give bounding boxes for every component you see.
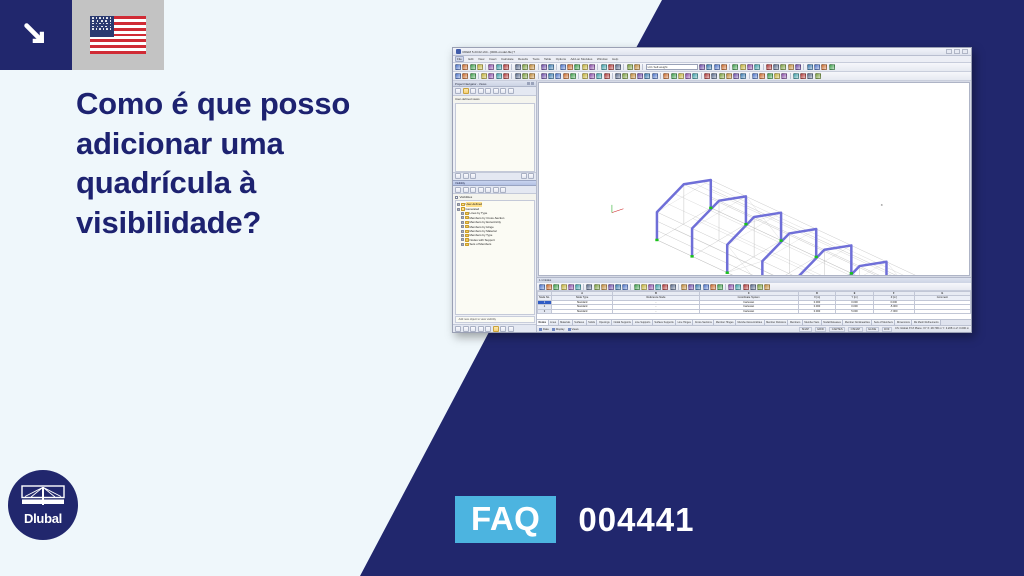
toolbar-icon-38[interactable] bbox=[759, 73, 765, 79]
menu-item-add-on-modules[interactable]: Add-on Modules bbox=[571, 57, 593, 61]
table-toolbar-separator bbox=[678, 284, 679, 290]
table-toolbar-icon-30[interactable] bbox=[735, 284, 741, 290]
tree-item-label: Sets of Members bbox=[470, 242, 492, 246]
tree-item-sets-of-members[interactable]: +Sets of Members bbox=[457, 242, 534, 246]
toolbar-icon-7[interactable] bbox=[503, 64, 509, 70]
toolbar-separator bbox=[478, 73, 479, 79]
folder-icon bbox=[465, 221, 469, 224]
main-toolbar[interactable]: LC1 Self-weight bbox=[453, 63, 971, 72]
toolbar-icon-22[interactable] bbox=[630, 73, 636, 79]
support-node bbox=[690, 255, 693, 257]
help-visibility-button[interactable] bbox=[508, 326, 514, 332]
toolbar-separator bbox=[485, 64, 486, 70]
data-icon bbox=[539, 328, 542, 331]
toolbar-separator bbox=[660, 73, 661, 79]
table-toolbar-icon-18[interactable] bbox=[655, 284, 661, 290]
toolbar-icon-13[interactable] bbox=[555, 73, 561, 79]
toolbar-icon-29[interactable] bbox=[747, 64, 753, 70]
toolbar-icon-15[interactable] bbox=[574, 64, 580, 70]
load-case-combo[interactable]: LC1 Self-weight bbox=[646, 64, 698, 70]
toolbar-icon-19[interactable] bbox=[608, 64, 614, 70]
status-item-label: Data bbox=[543, 328, 549, 331]
toolbar-icon-27[interactable] bbox=[732, 64, 738, 70]
toolbar-icon-4[interactable] bbox=[481, 73, 487, 79]
toolbar-separator bbox=[511, 64, 512, 70]
table-toolbar-icon-4[interactable] bbox=[561, 284, 567, 290]
menu-item-edit[interactable]: Edit bbox=[468, 57, 473, 61]
status-toggle-snap[interactable]: SNAP bbox=[799, 327, 811, 332]
select-visibility-button[interactable] bbox=[485, 326, 491, 332]
toolbar-icon-45[interactable] bbox=[815, 73, 821, 79]
toolbar-icon-27[interactable] bbox=[671, 73, 677, 79]
toolbar-icon-35[interactable] bbox=[795, 64, 801, 70]
apply-visibility-button[interactable] bbox=[493, 326, 499, 332]
toolbar-icon-29[interactable] bbox=[685, 73, 691, 79]
maximize-button[interactable] bbox=[954, 49, 960, 54]
toolbar-icon-12[interactable] bbox=[548, 73, 554, 79]
toolbar-separator bbox=[538, 73, 539, 79]
group-icon[interactable] bbox=[478, 187, 484, 193]
cell-node-no[interactable]: 3 bbox=[538, 309, 552, 314]
toolbar-icon-17[interactable] bbox=[589, 73, 595, 79]
status-item-label: Views bbox=[572, 328, 579, 331]
menu-item-help[interactable]: Help bbox=[612, 57, 618, 61]
wire-view-button[interactable] bbox=[500, 88, 506, 94]
status-toggle-dxf[interactable]: DXF bbox=[882, 327, 892, 332]
toolbar-icon-37[interactable] bbox=[752, 73, 758, 79]
toolbar-icon-12[interactable] bbox=[548, 64, 554, 70]
status-right-group: SNAPGRIDCARTESOSNAPGLINEDXFCS: Global XY… bbox=[799, 327, 969, 332]
table-toolbar-icon-26[interactable] bbox=[710, 284, 716, 290]
toolbar-separator bbox=[612, 73, 613, 79]
toolbar-icon-15[interactable] bbox=[570, 73, 576, 79]
menu-item-results[interactable]: Results bbox=[518, 57, 528, 61]
status-toggle-osnap[interactable]: OSNAP bbox=[848, 327, 862, 332]
toolbar-icon-24[interactable] bbox=[644, 73, 650, 79]
toolbar-icon-4[interactable] bbox=[477, 64, 483, 70]
collapse-icon[interactable] bbox=[500, 187, 506, 193]
toolbar-icon-26[interactable] bbox=[721, 64, 727, 70]
support-node bbox=[779, 239, 782, 241]
folder-icon bbox=[465, 216, 469, 219]
close-button[interactable] bbox=[962, 49, 968, 54]
menu-item-table[interactable]: Table bbox=[544, 57, 551, 61]
toolbar-icon-2[interactable] bbox=[462, 73, 468, 79]
dlubal-bridge-icon bbox=[21, 485, 65, 509]
faq-badge: FAQ bbox=[455, 496, 556, 543]
invert-icon[interactable] bbox=[470, 187, 476, 193]
toolbar-separator bbox=[623, 64, 624, 70]
minimize-button[interactable] bbox=[946, 49, 952, 54]
toolbar-separator bbox=[556, 64, 557, 70]
list-view-button[interactable] bbox=[508, 88, 514, 94]
language-bar bbox=[0, 0, 164, 70]
table-toolbar-icon-17[interactable] bbox=[648, 284, 654, 290]
visibilities-label: Visibilities bbox=[460, 195, 473, 199]
dlubal-logo: Dlubal bbox=[8, 470, 78, 540]
logo-text: Dlubal bbox=[24, 511, 62, 526]
cell-reference-node[interactable]: - bbox=[613, 309, 699, 314]
wireframe-grid bbox=[657, 180, 957, 275]
expand-icon[interactable]: + bbox=[457, 203, 460, 206]
status-item-label: Display bbox=[556, 328, 565, 331]
toolbar-icon-17[interactable] bbox=[589, 64, 595, 70]
toolbar-icon-3[interactable] bbox=[470, 64, 476, 70]
toolbar-icon-36[interactable] bbox=[740, 73, 746, 79]
refresh-button[interactable] bbox=[470, 173, 476, 179]
table-toolbar-icon-31[interactable] bbox=[743, 284, 749, 290]
toolbar-icon-40[interactable] bbox=[774, 73, 780, 79]
status-toggle-grid[interactable]: GRID bbox=[815, 327, 827, 332]
menu-bar[interactable]: FileEditViewInsertCalculateResultsToolsT… bbox=[453, 56, 971, 63]
toolbar-icon-25[interactable] bbox=[652, 73, 658, 79]
table-toolbar-icon-2[interactable] bbox=[546, 284, 552, 290]
add-button[interactable] bbox=[455, 173, 461, 179]
navigator-footer-toolbar[interactable] bbox=[453, 172, 536, 180]
arrow-down-right-icon bbox=[0, 0, 72, 70]
navigator-toolbar[interactable] bbox=[453, 87, 536, 96]
toolbar-icon-10[interactable] bbox=[529, 73, 535, 79]
table-toolbar-separator bbox=[583, 284, 584, 290]
support-node bbox=[744, 223, 747, 225]
reset-visibility-button[interactable] bbox=[500, 326, 506, 332]
folder-icon bbox=[465, 225, 469, 228]
toolbar-icon-33[interactable] bbox=[780, 64, 786, 70]
toolbar-icon-14[interactable] bbox=[567, 64, 573, 70]
toolbar-icon-30[interactable] bbox=[754, 64, 760, 70]
folder-icon bbox=[465, 212, 469, 215]
toolbar-icon-6[interactable] bbox=[496, 73, 502, 79]
table-toolbar-icon-11[interactable] bbox=[608, 284, 614, 290]
toolbar-separator bbox=[803, 64, 804, 70]
navigator-title: Project Navigator - Views bbox=[455, 82, 486, 86]
toolbar-icon-37[interactable] bbox=[814, 64, 820, 70]
menu-item-insert[interactable]: Insert bbox=[489, 57, 497, 61]
nodes-table[interactable]: ABCDEFG Node No.Node TypeReference NodeC… bbox=[537, 291, 971, 319]
visibility-footer-toolbar[interactable] bbox=[453, 324, 536, 332]
toolbar-icon-39[interactable] bbox=[767, 73, 773, 79]
table-toolbar-icon-1[interactable] bbox=[539, 284, 545, 290]
table-toolbar-icon-32[interactable] bbox=[750, 284, 756, 290]
expand-icon[interactable]: + bbox=[461, 225, 464, 228]
table-toolbar-icon-20[interactable] bbox=[670, 284, 676, 290]
toolbar-separator bbox=[597, 64, 598, 70]
user-defined-views-list[interactable] bbox=[455, 103, 535, 172]
toolbar-separator bbox=[701, 73, 702, 79]
visibility-tree[interactable]: +User-defined+Generated+Lines by Type+Me… bbox=[455, 200, 535, 315]
up-button[interactable] bbox=[521, 173, 527, 179]
toolbar-separator bbox=[749, 73, 750, 79]
expand-icon[interactable]: + bbox=[461, 221, 464, 224]
support-node bbox=[726, 271, 729, 273]
expand-icon[interactable]: + bbox=[461, 230, 464, 233]
support-node bbox=[709, 207, 712, 209]
remove-button[interactable] bbox=[463, 173, 469, 179]
toolbar-icon-6[interactable] bbox=[496, 64, 502, 70]
toolbar-icon-8[interactable] bbox=[515, 64, 521, 70]
zoom-view-button[interactable] bbox=[485, 88, 491, 94]
toolbar-separator bbox=[729, 64, 730, 70]
toolbar-icon-24[interactable] bbox=[706, 64, 712, 70]
toolbar-icon-20[interactable] bbox=[615, 73, 621, 79]
folder-icon bbox=[465, 230, 469, 233]
window-titlebar: RFEM 5.23.02.x64 - [0001-model-file] ? bbox=[453, 48, 971, 56]
status-item-views[interactable]: Views bbox=[568, 328, 579, 331]
toolbar-icon-2[interactable] bbox=[462, 64, 468, 70]
filter-icon[interactable] bbox=[485, 187, 491, 193]
table-toolbar-icon-12[interactable] bbox=[615, 284, 621, 290]
toolbar-icon-34[interactable] bbox=[788, 64, 794, 70]
menu-item-options[interactable]: Options bbox=[556, 57, 566, 61]
status-item-display[interactable]: Display bbox=[552, 328, 565, 331]
new-visibility-button[interactable] bbox=[455, 326, 461, 332]
table-toolbar-icon-34[interactable] bbox=[764, 284, 770, 290]
svg-text:x: x bbox=[881, 203, 883, 207]
rfem-app-icon bbox=[456, 49, 461, 54]
project-navigator-panel: Project Navigator - Views User-defined v… bbox=[453, 81, 537, 332]
edit-visibility-button[interactable] bbox=[463, 326, 469, 332]
folder-icon bbox=[461, 203, 465, 206]
toolbar-icon-42[interactable] bbox=[793, 73, 799, 79]
table-toolbar-separator bbox=[630, 284, 631, 290]
toolbar-icon-43[interactable] bbox=[800, 73, 806, 79]
toolbar-icon-26[interactable] bbox=[663, 73, 669, 79]
expand-icon[interactable]: + bbox=[461, 216, 464, 219]
menu-item-tools[interactable]: Tools bbox=[533, 57, 540, 61]
table-toolbar-separator bbox=[725, 284, 726, 290]
menu-item-file[interactable]: File bbox=[455, 56, 464, 62]
toolbar-icon-33[interactable] bbox=[719, 73, 725, 79]
table-toolbar-icon-22[interactable] bbox=[681, 284, 687, 290]
coordinate-axes: x bbox=[612, 203, 883, 213]
expand-icon[interactable]: + bbox=[457, 208, 460, 211]
toolbar-icon-3[interactable] bbox=[470, 73, 476, 79]
cell-coordinate-system[interactable]: Cartesian bbox=[699, 309, 798, 314]
toolbar-icon-9[interactable] bbox=[522, 73, 528, 79]
toolbar-icon-22[interactable] bbox=[634, 64, 640, 70]
table-toolbar-icon-16[interactable] bbox=[641, 284, 647, 290]
apply-view-button[interactable] bbox=[478, 88, 484, 94]
table-row[interactable]: 3Standard-Cartesian0.0005.000-7.000 bbox=[538, 309, 971, 314]
toolbar-icon-23[interactable] bbox=[637, 73, 643, 79]
expand-icon[interactable] bbox=[493, 187, 499, 193]
navigator-footer-right[interactable] bbox=[521, 173, 535, 179]
copy-visibility-button[interactable] bbox=[478, 326, 484, 332]
toolbar-separator bbox=[790, 73, 791, 79]
toolbar-icon-20[interactable] bbox=[615, 64, 621, 70]
window-controls[interactable] bbox=[946, 49, 968, 54]
table-toolbar-icon-29[interactable] bbox=[728, 284, 734, 290]
table-panel: 1.1 Nodes ABCDEFG Node No.Node TypeRefer… bbox=[537, 277, 971, 325]
table-toolbar-icon-24[interactable] bbox=[695, 284, 701, 290]
folder-icon bbox=[465, 238, 469, 241]
toolbar-icon-19[interactable] bbox=[604, 73, 610, 79]
toolbar-icon-32[interactable] bbox=[773, 64, 779, 70]
toolbar-icon-1[interactable] bbox=[455, 64, 461, 70]
status-coordinates: CS: Global XYZ Plane: XY X: 28.796 m Y: … bbox=[895, 327, 969, 332]
toolbar-icon-13[interactable] bbox=[560, 64, 566, 70]
views-icon bbox=[568, 328, 571, 331]
navigator-header-buttons[interactable] bbox=[527, 82, 535, 85]
folder-icon bbox=[465, 243, 469, 246]
status-bar: DataDisplayViewsSNAPGRIDCARTESOSNAPGLINE… bbox=[537, 325, 971, 332]
faq-number: 004441 bbox=[578, 503, 694, 536]
status-item-data[interactable]: Data bbox=[539, 328, 549, 331]
folder-icon bbox=[461, 207, 465, 210]
toolbar-icon-16[interactable] bbox=[582, 73, 588, 79]
toolbar-icon-16[interactable] bbox=[582, 64, 588, 70]
delete-view-button[interactable] bbox=[470, 88, 476, 94]
toolbar-icon-1[interactable] bbox=[455, 73, 461, 79]
window-title: RFEM 5.23.02.x64 - [0001-model-file] ? bbox=[463, 50, 516, 54]
expand-icon[interactable]: + bbox=[461, 212, 464, 215]
toolbar-icon-39[interactable] bbox=[829, 64, 835, 70]
render-view-button[interactable] bbox=[493, 88, 499, 94]
toolbar-separator bbox=[578, 73, 579, 79]
table-toolbar-icon-9[interactable] bbox=[594, 284, 600, 290]
hide-icon[interactable] bbox=[463, 187, 469, 193]
support-node bbox=[655, 239, 658, 241]
toolbar-icon-10[interactable] bbox=[529, 64, 535, 70]
visibility-toolbar[interactable] bbox=[453, 186, 536, 195]
checkbox-box[interactable] bbox=[455, 196, 458, 199]
toolbar-icon-21[interactable] bbox=[627, 64, 633, 70]
page-title: Como é que posso adicionar uma quadrícul… bbox=[76, 84, 416, 243]
secondary-toolbar[interactable] bbox=[453, 72, 971, 81]
table-toolbar-icon-15[interactable] bbox=[634, 284, 640, 290]
toolbar-icon-9[interactable] bbox=[522, 64, 528, 70]
toolbar-icon-23[interactable] bbox=[699, 64, 705, 70]
toolbar-icon-14[interactable] bbox=[563, 73, 569, 79]
toolbar-icon-7[interactable] bbox=[503, 73, 509, 79]
toolbar-icon-18[interactable] bbox=[601, 64, 607, 70]
toolbar-icon-28[interactable] bbox=[740, 64, 746, 70]
toolbar-icon-21[interactable] bbox=[622, 73, 628, 79]
table-toolbar-icon-23[interactable] bbox=[688, 284, 694, 290]
toolbar-icon-11[interactable] bbox=[541, 73, 547, 79]
menu-item-window[interactable]: Window bbox=[597, 57, 608, 61]
toolbar-icon-32[interactable] bbox=[711, 73, 717, 79]
table-toolbar-icon-3[interactable] bbox=[553, 284, 559, 290]
folder-icon bbox=[465, 234, 469, 237]
delete-visibility-button[interactable] bbox=[470, 326, 476, 332]
window-body: Project Navigator - Views User-defined v… bbox=[453, 81, 971, 332]
toolbar-icon-35[interactable] bbox=[733, 73, 739, 79]
expand-icon[interactable]: + bbox=[461, 238, 464, 241]
toolbar-icon-25[interactable] bbox=[714, 64, 720, 70]
table-body[interactable]: 1Standard-Cartesian0.0000.0000.0002Stand… bbox=[538, 300, 971, 314]
toolbar-icon-41[interactable] bbox=[781, 73, 787, 79]
toolbar-icon-5[interactable] bbox=[488, 73, 494, 79]
structural-model-3d: x bbox=[539, 83, 969, 275]
status-toggle-gline[interactable]: GLINE bbox=[866, 327, 879, 332]
flag-canton bbox=[90, 16, 114, 37]
table-toolbar-icon-8[interactable] bbox=[586, 284, 592, 290]
down-button[interactable] bbox=[528, 173, 534, 179]
toolbar-icon-11[interactable] bbox=[541, 64, 547, 70]
table-toolbar-icon-27[interactable] bbox=[717, 284, 723, 290]
navigator-hint: Add new object to view visibility bbox=[455, 316, 535, 323]
support-nodes bbox=[655, 207, 958, 275]
toolbar-icon-34[interactable] bbox=[726, 73, 732, 79]
table-toolbar[interactable] bbox=[537, 283, 971, 291]
toolbar-icon-28[interactable] bbox=[678, 73, 684, 79]
application-window: RFEM 5.23.02.x64 - [0001-model-file] ? F… bbox=[452, 47, 972, 333]
cell-node-type[interactable]: Standard bbox=[551, 309, 612, 314]
expand-icon[interactable]: + bbox=[461, 243, 464, 246]
toolbar-separator bbox=[538, 64, 539, 70]
navigator-caption: User-defined views bbox=[453, 96, 536, 103]
us-flag-graphic bbox=[90, 16, 146, 54]
arrow-down-right-glyph bbox=[21, 20, 51, 50]
table-toolbar-icon-19[interactable] bbox=[662, 284, 668, 290]
visibility-title: Visibility bbox=[455, 181, 465, 185]
model-viewport[interactable]: x bbox=[538, 82, 970, 276]
toolbar-icon-38[interactable] bbox=[821, 64, 827, 70]
menu-item-calculate[interactable]: Calculate bbox=[501, 57, 514, 61]
status-toggle-cartes[interactable]: CARTES bbox=[829, 327, 845, 332]
display-icon bbox=[552, 328, 555, 331]
table-toolbar-icon-13[interactable] bbox=[622, 284, 628, 290]
workspace: x 1.1 Nodes ABCDEFG Node No.Node TypeRef… bbox=[537, 81, 971, 332]
cell-comment[interactable] bbox=[914, 309, 970, 314]
cell-x[interactable]: 0.000 bbox=[798, 309, 836, 314]
us-flag-icon bbox=[72, 0, 164, 70]
toolbar-icon-44[interactable] bbox=[807, 73, 813, 79]
nodes-datagrid[interactable]: ABCDEFG Node No.Node TypeReference NodeC… bbox=[537, 291, 971, 314]
cell-z[interactable]: -7.000 bbox=[873, 309, 914, 314]
cell-y[interactable]: 5.000 bbox=[836, 309, 874, 314]
menu-item-view[interactable]: View bbox=[478, 57, 484, 61]
faq-footer: FAQ 004441 bbox=[455, 496, 694, 543]
table-toolbar-icon-5[interactable] bbox=[568, 284, 574, 290]
toolbar-icon-30[interactable] bbox=[692, 73, 698, 79]
toolbar-separator bbox=[642, 64, 643, 70]
table-toolbar-icon-10[interactable] bbox=[601, 284, 607, 290]
toolbar-icon-5[interactable] bbox=[488, 64, 494, 70]
toolbar-icon-36[interactable] bbox=[807, 64, 813, 70]
toolbar-icon-18[interactable] bbox=[596, 73, 602, 79]
toolbar-separator bbox=[763, 64, 764, 70]
toolbar-icon-31[interactable] bbox=[704, 73, 710, 79]
toolbar-icon-8[interactable] bbox=[515, 73, 521, 79]
support-node bbox=[815, 256, 818, 258]
show-all-icon[interactable] bbox=[455, 187, 461, 193]
table-toolbar-icon-25[interactable] bbox=[703, 284, 709, 290]
toolbar-icon-31[interactable] bbox=[766, 64, 772, 70]
table-toolbar-icon-33[interactable] bbox=[757, 284, 763, 290]
expand-icon[interactable]: + bbox=[461, 234, 464, 237]
toolbar-separator bbox=[511, 73, 512, 79]
new-view-button[interactable] bbox=[455, 88, 461, 94]
edit-view-button[interactable] bbox=[463, 88, 469, 94]
table-toolbar-icon-6[interactable] bbox=[575, 284, 581, 290]
support-node bbox=[850, 272, 853, 274]
